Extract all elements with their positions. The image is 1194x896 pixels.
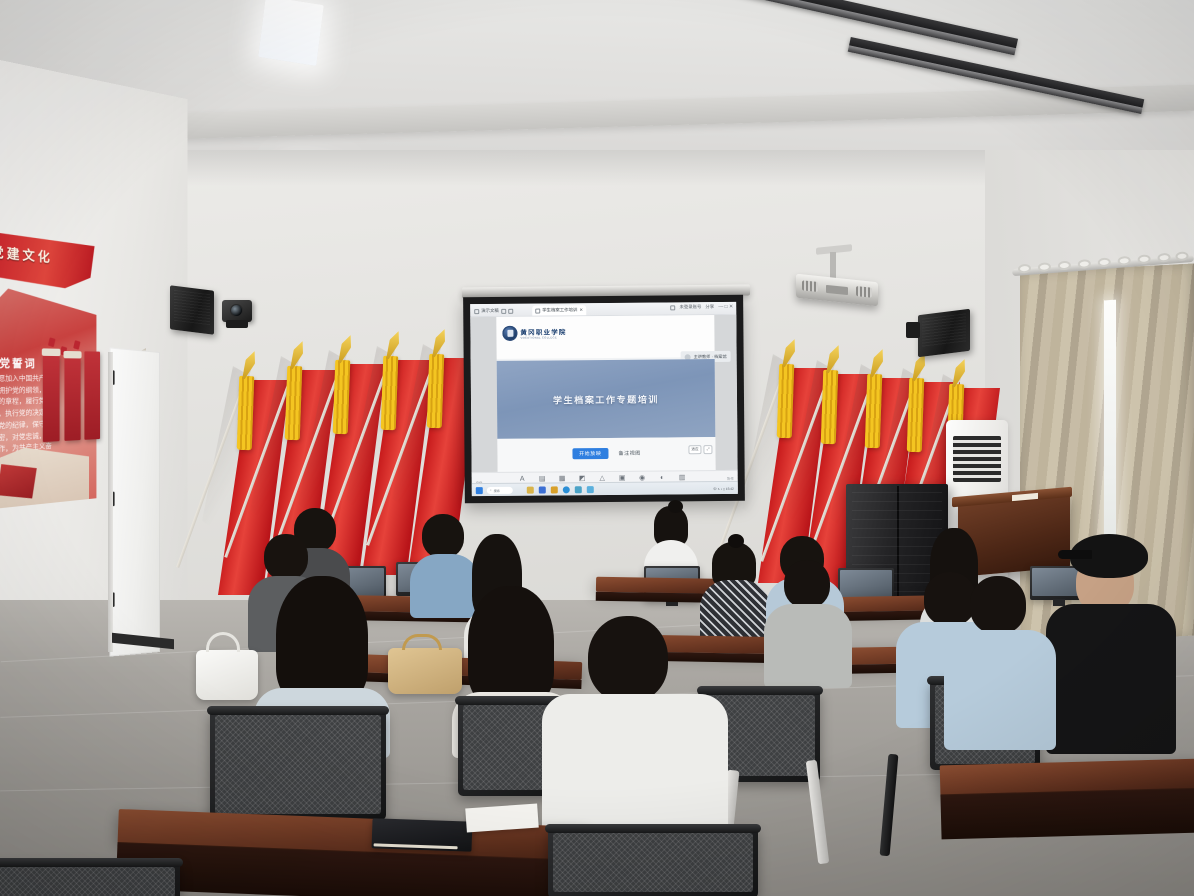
os-taskbar: ⌕ 搜索 中 ∧ ♪ ▯ 15:42 bbox=[472, 481, 738, 496]
meeting-icon[interactable] bbox=[587, 486, 594, 493]
browser-tab-1-label: 演示文稿 bbox=[481, 308, 499, 314]
taskbar-search[interactable]: ⌕ 搜索 bbox=[487, 486, 513, 493]
speaker-bracket bbox=[906, 322, 920, 338]
slide-left-margin bbox=[470, 317, 497, 477]
chair-foreground[interactable] bbox=[548, 828, 758, 896]
culture-wall-title-text: 党建文化 bbox=[0, 242, 53, 266]
table-icon: ▦ bbox=[556, 474, 569, 482]
culture-wall-monument bbox=[0, 462, 37, 502]
search-icon: ⌕ bbox=[490, 488, 492, 492]
culture-wall-title-plaque: 党建文化 bbox=[0, 231, 95, 290]
system-tray[interactable]: 中 ∧ ♪ ▯ 15:42 bbox=[713, 485, 733, 490]
party-culture-wall: 党建文化 入党誓词 我志愿加入中国共产党，拥护党的纲领，遵守党的章程，履行党员义… bbox=[0, 229, 118, 520]
paper-sheet bbox=[465, 804, 538, 833]
tan-handbag bbox=[388, 648, 462, 694]
start-button-icon[interactable] bbox=[476, 487, 483, 494]
college-logo: 黄冈职业学院 VOCATIONAL COLLEGE bbox=[502, 325, 566, 341]
slide-button-row: 开始放映 备注视图 bbox=[497, 447, 715, 460]
account-label[interactable]: 未登录账号 bbox=[679, 304, 701, 310]
fullscreen-icon[interactable]: ⤢ bbox=[704, 445, 713, 454]
edge-icon[interactable] bbox=[563, 486, 570, 493]
font-icon: A bbox=[516, 475, 529, 483]
college-name-en: VOCATIONAL COLLEGE bbox=[520, 336, 566, 339]
black-notebook bbox=[372, 818, 473, 851]
classroom-photo: 党建文化 入党誓词 我志愿加入中国共产党，拥护党的纲领，遵守党的章程，履行党员义… bbox=[0, 0, 1194, 896]
search-placeholder: 搜索 bbox=[494, 487, 500, 492]
animation-icon: ◐ bbox=[656, 473, 669, 481]
culture-wall-column-cap bbox=[63, 351, 81, 359]
culture-wall-column bbox=[43, 355, 60, 442]
user-icon bbox=[670, 305, 675, 310]
chair-row3-left[interactable] bbox=[210, 710, 386, 820]
shape-icon: △ bbox=[596, 474, 609, 482]
wall-shadow bbox=[110, 150, 1050, 186]
slide-right-margin bbox=[714, 315, 737, 475]
browser-tab-1[interactable]: 演示文稿 bbox=[474, 306, 513, 316]
undo-icon[interactable] bbox=[508, 308, 513, 313]
start-presentation-button[interactable]: 开始放映 bbox=[572, 448, 609, 459]
culture-wall-column bbox=[64, 357, 80, 441]
master-slide-icon: ▥ bbox=[676, 473, 689, 481]
share-label[interactable]: 分享 bbox=[705, 304, 714, 310]
camera-mount bbox=[226, 320, 248, 328]
slide-title: 学生档案工作专题培训 bbox=[553, 392, 659, 406]
ppt-icon[interactable] bbox=[551, 486, 558, 493]
image-icon: ◩ bbox=[576, 474, 589, 482]
white-handbag bbox=[196, 650, 258, 700]
side-door[interactable] bbox=[110, 347, 160, 656]
culture-wall-column bbox=[84, 351, 100, 439]
culture-wall-heading: 入党誓词 bbox=[0, 354, 37, 371]
mail-icon[interactable] bbox=[575, 486, 582, 493]
window-controls[interactable]: — □ ✕ bbox=[718, 304, 733, 310]
slide-hero: 学生档案工作专题培训 bbox=[497, 359, 716, 439]
ptz-camera bbox=[222, 300, 252, 322]
taskbar-app-icons bbox=[527, 486, 594, 494]
close-icon[interactable]: ✕ bbox=[579, 307, 583, 313]
slide-corner-buttons: 适应 ⤢ bbox=[688, 445, 712, 454]
wall-speaker-right bbox=[918, 309, 970, 357]
door-edge bbox=[108, 352, 113, 652]
projected-desktop: 演示文稿 学生档案工作培训 ✕ 未登录账号 分享 — □ ✕ bbox=[470, 302, 738, 496]
chair-foreground-left[interactable] bbox=[0, 862, 180, 896]
paragraph-icon: ▤ bbox=[536, 474, 549, 482]
ac-vent-grill bbox=[953, 436, 1001, 482]
browser-actions: 未登录账号 分享 — □ ✕ bbox=[670, 304, 733, 311]
save-icon[interactable] bbox=[501, 308, 506, 313]
notes-view-button[interactable]: 备注视图 bbox=[618, 450, 640, 457]
fit-button[interactable]: 适应 bbox=[688, 445, 701, 454]
folder-icon[interactable] bbox=[527, 486, 534, 493]
browser-tab-2-label: 学生档案工作培训 bbox=[542, 307, 577, 313]
projection-screen: 演示文稿 学生档案工作培训 ✕ 未登录账号 分享 — □ ✕ bbox=[463, 295, 745, 503]
document-icon bbox=[474, 309, 479, 314]
media-icon: ◉ bbox=[636, 474, 649, 482]
college-name-cn: 黄冈职业学院 bbox=[520, 326, 566, 336]
desk-foreground-right bbox=[940, 759, 1194, 796]
word-icon[interactable] bbox=[539, 486, 546, 493]
ceiling-light-panel bbox=[258, 0, 324, 66]
browser-tab-2[interactable]: 学生档案工作培训 ✕ bbox=[532, 305, 586, 315]
culture-wall-column-cap bbox=[42, 348, 61, 356]
college-emblem-icon bbox=[502, 326, 517, 341]
chart-icon: ▣ bbox=[616, 474, 629, 482]
slides-icon bbox=[535, 308, 540, 313]
wall-speaker-left bbox=[170, 285, 214, 334]
camera-lens-icon bbox=[230, 304, 243, 317]
